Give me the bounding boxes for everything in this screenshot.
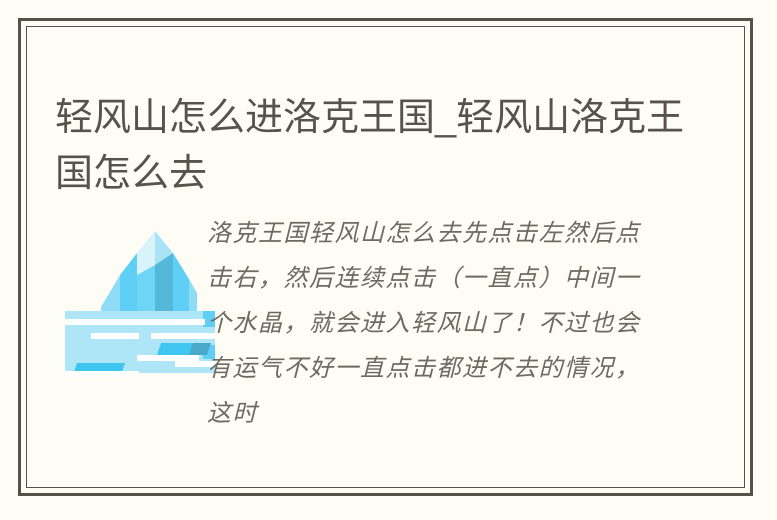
- page-title: 轻风山怎么进洛克王国_轻风山洛克王国怎么去: [55, 90, 695, 202]
- iceberg-icon: [65, 213, 215, 381]
- article-card-inner-border: 轻风山怎么进洛克王国_轻风山洛克王国怎么去: [26, 26, 745, 488]
- article-card: 轻风山怎么进洛克王国_轻风山洛克王国怎么去: [18, 18, 753, 496]
- article-content: 轻风山怎么进洛克王国_轻风山洛克王国怎么去: [27, 27, 744, 487]
- article-body-text: 洛克王国轻风山怎么去先点击左然后点击右，然后连续点击（一直点）中间一个水晶，就会…: [207, 211, 655, 436]
